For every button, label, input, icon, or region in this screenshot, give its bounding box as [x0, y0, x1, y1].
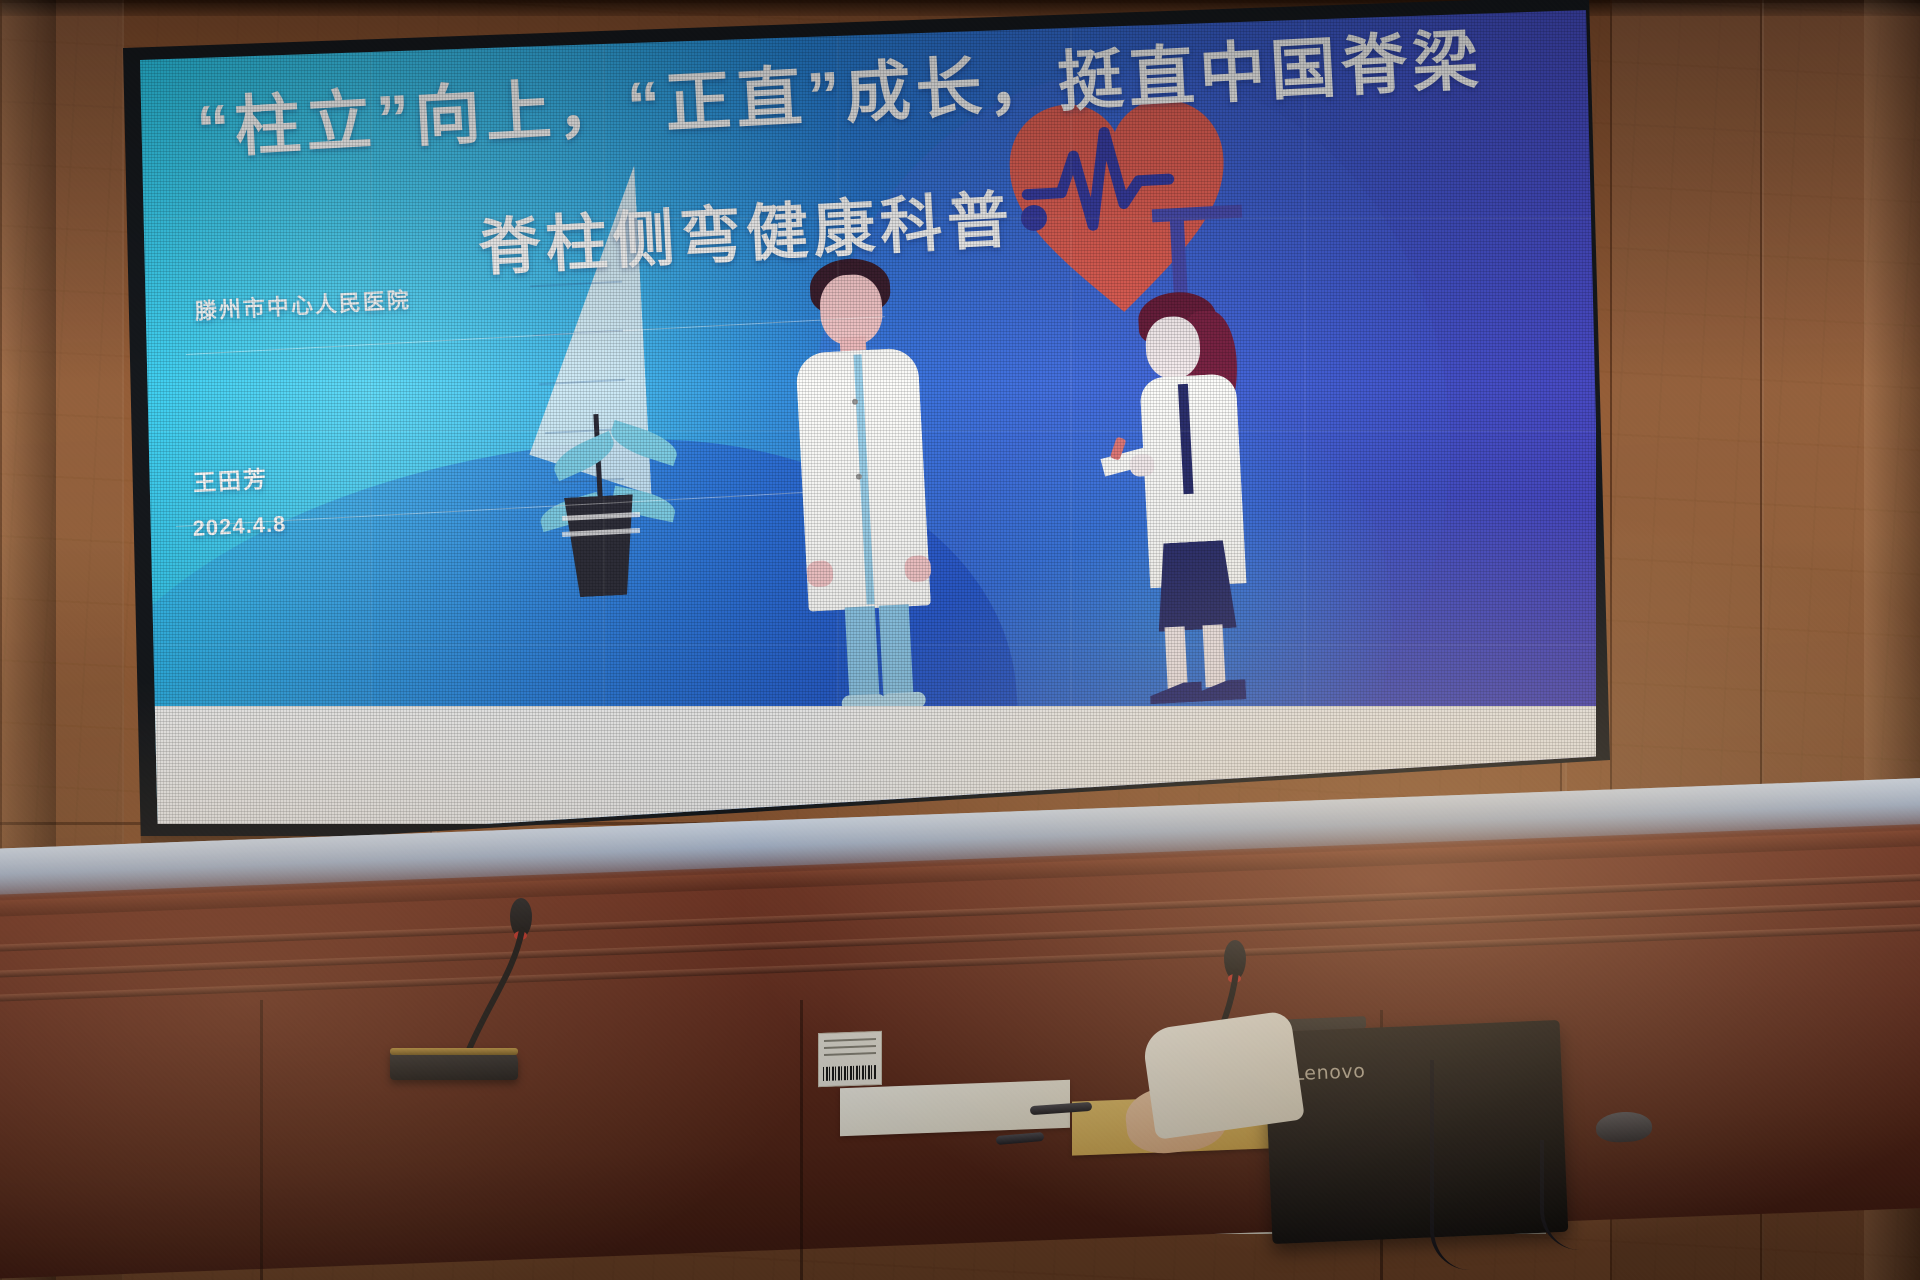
room-lighting [0, 0, 1920, 1280]
conference-hall-scene: “柱立”向上，“正直”成长，挺直中国脊梁 脊柱侧弯健康科普 滕州市中心人民医院 … [0, 0, 1920, 1280]
